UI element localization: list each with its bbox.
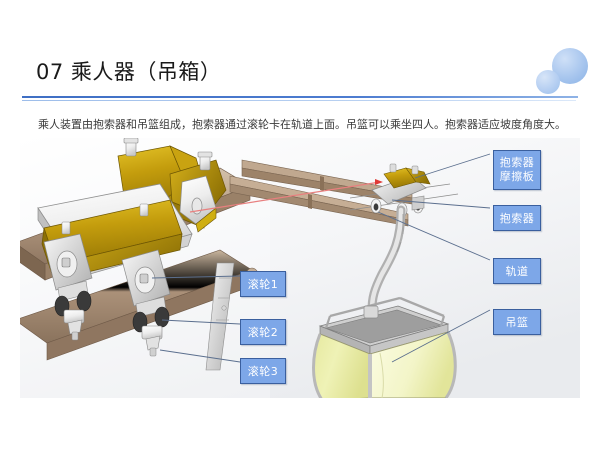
description-text: 乘人装置由抱索器和吊篮组成，抱索器通过滚轮卡在轨道上面。吊篮可以乘坐四人。抱索器… [38,117,568,133]
callout-label: 轨道 [506,265,529,278]
callout-label: 抱索器 [500,212,535,225]
callout-diaolan[interactable]: 吊篮 [493,309,541,335]
callout-label: 滚轮3 [248,365,279,378]
callout-label: 滚轮2 [248,326,279,339]
callout-gunlun-1[interactable]: 滚轮1 [240,271,286,297]
callout-gunlun-3[interactable]: 滚轮3 [240,358,286,384]
callout-gunlun-2[interactable]: 滚轮2 [240,319,286,345]
callout-label: 吊篮 [506,316,529,329]
slide-canvas: 07 乘人器（吊箱） 乘人装置由抱索器和吊篮组成，抱索器通过滚轮卡在轨道上面。吊… [0,0,600,450]
callout-label: 滚轮1 [248,278,279,291]
callout-baosuoqi[interactable]: 抱索器 [493,205,541,231]
callout-guidao[interactable]: 轨道 [493,258,541,284]
title-divider [22,96,578,98]
callout-line-1: 抱索器 [500,156,535,170]
callout-line-2: 摩擦板 [500,170,535,184]
page-title: 07 乘人器（吊箱） [36,58,221,86]
decorative-circle-small-icon [536,70,560,94]
callout-baosuoqi-mocaban[interactable]: 抱索器 摩擦板 [493,150,541,190]
title-divider-secondary [22,100,576,101]
